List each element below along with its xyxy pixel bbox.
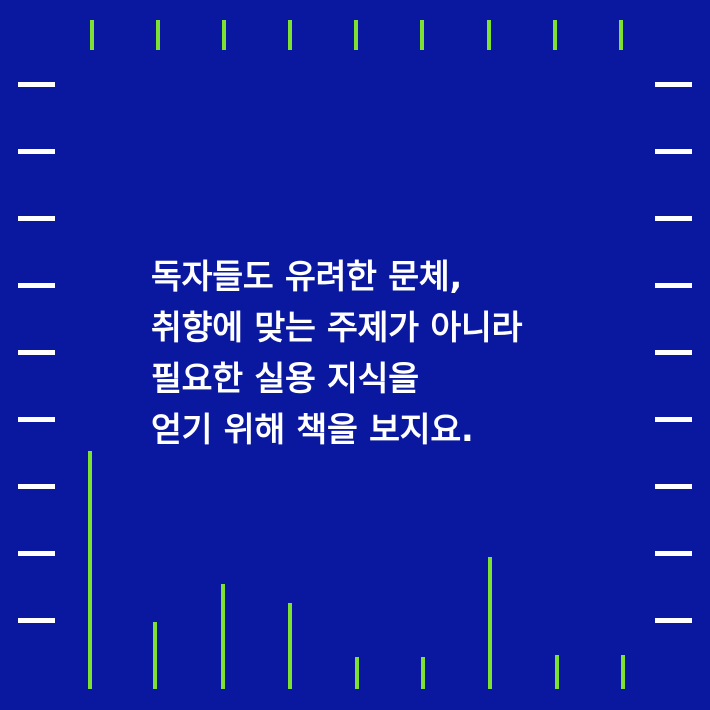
top-tick [156, 20, 160, 50]
bottom-bar [355, 657, 359, 689]
right-dash [655, 149, 692, 154]
headline-line-1: 독자들도 유려한 문체, [151, 251, 581, 302]
bottom-bar [221, 584, 225, 689]
bottom-bar [621, 655, 625, 689]
bottom-bar [555, 655, 559, 689]
right-dash [655, 350, 692, 355]
left-dash [18, 149, 55, 154]
headline-line-3: 필요한 실용 지식을 [151, 353, 581, 404]
top-tick [420, 20, 424, 50]
left-dash [18, 82, 55, 87]
left-dash [18, 417, 55, 422]
headline-line-4: 얻기 위해 책을 보지요. [151, 404, 581, 455]
left-dash [18, 283, 55, 288]
left-dash [18, 484, 55, 489]
bottom-bar [488, 557, 492, 689]
right-dash [655, 82, 692, 87]
headline-line-2: 취향에 맞는 주제가 아니라 [151, 302, 581, 353]
top-tick [288, 20, 292, 50]
top-tick [222, 20, 226, 50]
left-dash [18, 350, 55, 355]
top-tick [487, 20, 491, 50]
left-dash [18, 216, 55, 221]
left-dash [18, 618, 55, 623]
bottom-bar [421, 657, 425, 689]
right-dash [655, 417, 692, 422]
right-dash [655, 551, 692, 556]
bottom-bar [88, 451, 92, 689]
right-dash [655, 283, 692, 288]
top-tick [90, 20, 94, 50]
right-dash [655, 618, 692, 623]
top-tick [619, 20, 623, 50]
top-tick [553, 20, 557, 50]
left-dash [18, 551, 55, 556]
top-tick [354, 20, 358, 50]
poster-card: 독자들도 유려한 문체, 취향에 맞는 주제가 아니라 필요한 실용 지식을 얻… [0, 0, 710, 710]
right-dash [655, 484, 692, 489]
bottom-bar [288, 603, 292, 689]
bottom-bar [153, 622, 157, 689]
headline-block: 독자들도 유려한 문체, 취향에 맞는 주제가 아니라 필요한 실용 지식을 얻… [151, 251, 581, 455]
right-dash [655, 216, 692, 221]
